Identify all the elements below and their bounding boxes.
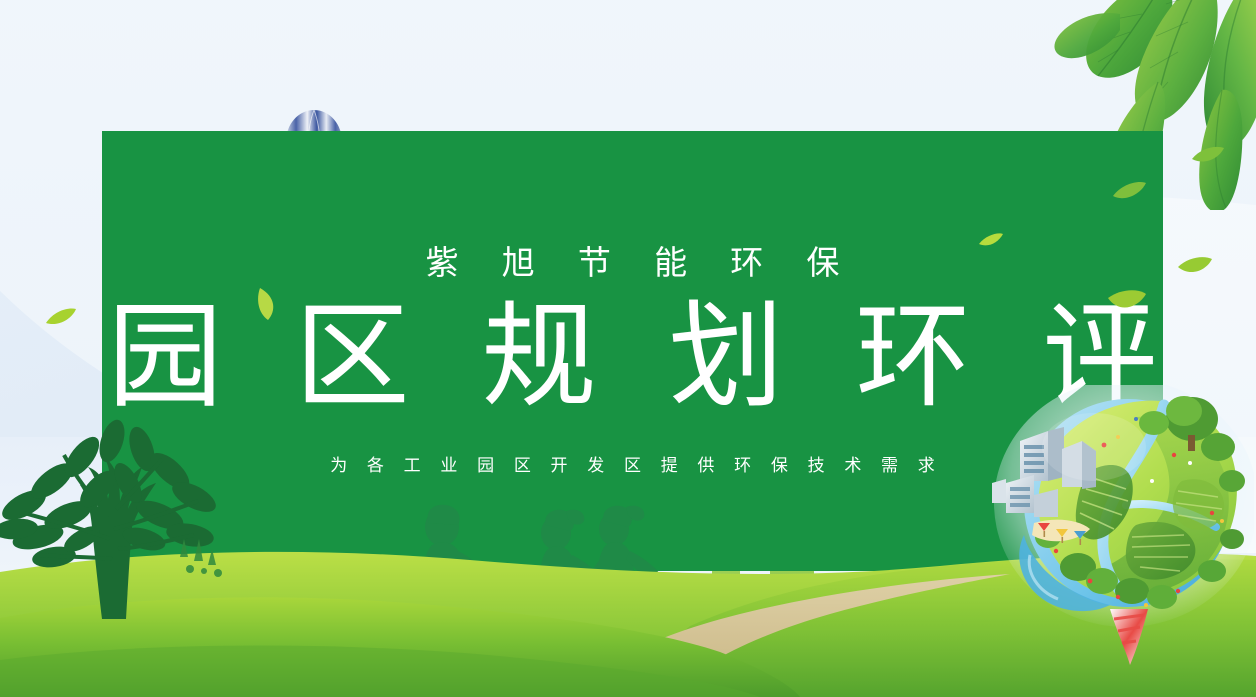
floating-leaf-icon	[254, 287, 280, 326]
floating-leaf-icon	[1191, 145, 1225, 165]
slide-canvas: 紫 旭 节 能 环 保 园 区 规 划 环 评 为 各 工 业 园 区 开 发 …	[0, 0, 1256, 697]
floating-leaf-icon	[978, 232, 1004, 253]
floating-leaf-icon	[1176, 255, 1214, 277]
floating-leaf-icon	[1112, 180, 1148, 207]
eyebrow-text: 紫 旭 节 能 环 保	[409, 246, 857, 279]
floating-leaf-icon	[44, 307, 78, 327]
floating-leaf-icon	[1106, 288, 1148, 319]
tree-icon	[0, 389, 234, 619]
eco-globe-icon	[986, 385, 1254, 675]
